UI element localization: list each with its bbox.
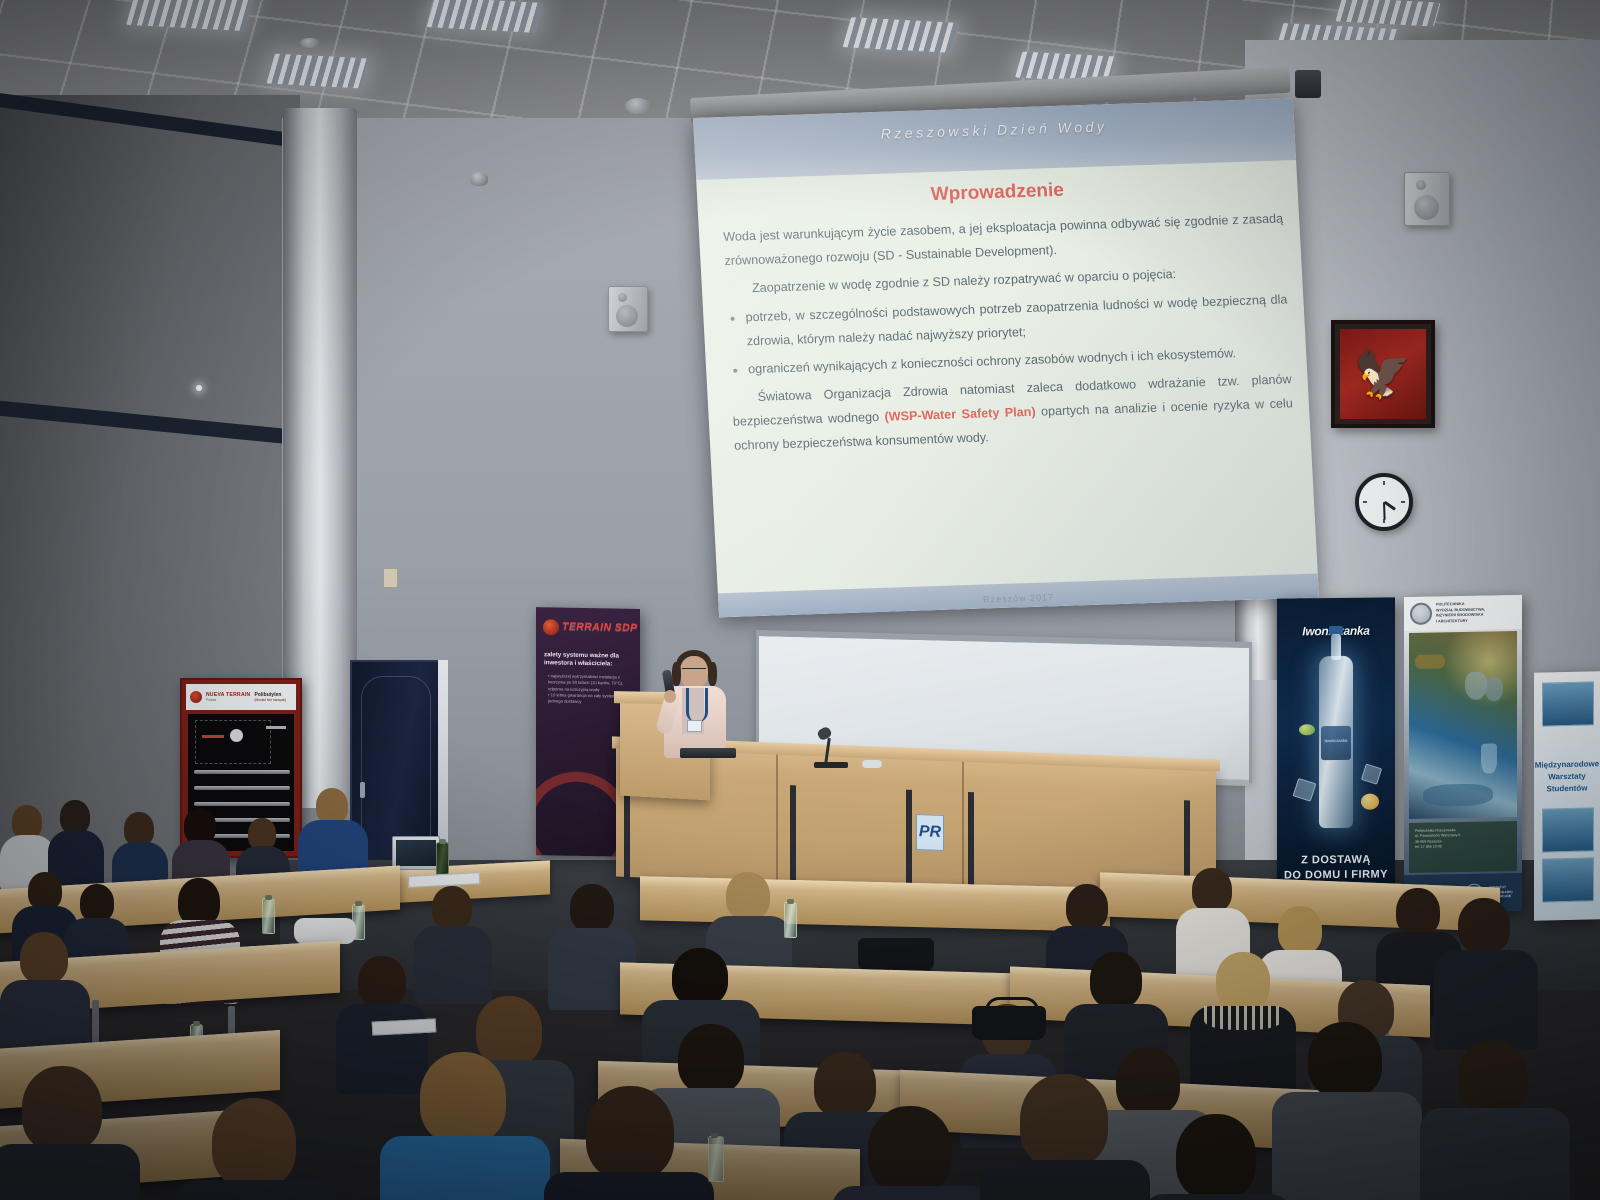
person-torso xyxy=(980,1160,1150,1200)
board-pipe-diagram xyxy=(195,720,271,764)
table-seam xyxy=(962,762,964,894)
slide-title: Wprowadzenie xyxy=(697,172,1298,214)
banner-iwoniczanka-line1: Z DOSTAWĄ xyxy=(1277,853,1395,866)
banner-edge-line1: Międzynarodowe xyxy=(1534,759,1600,770)
coat-on-bench xyxy=(294,918,356,944)
ceiling-vent-icon xyxy=(625,98,651,114)
microphone-stem xyxy=(824,738,831,764)
clock-tick xyxy=(1383,481,1385,485)
polish-eagle-emblem: 🦅 xyxy=(1331,320,1435,428)
lemon-slice-icon xyxy=(1361,794,1379,810)
board-pipe-sample xyxy=(194,770,290,774)
wall-clock xyxy=(1355,473,1413,531)
diagram-red-line xyxy=(202,735,224,738)
bottle-label: Iwoniczanka xyxy=(1321,726,1351,760)
wall-speaker-left xyxy=(608,286,648,332)
audience-person xyxy=(1434,898,1538,1048)
person-torso xyxy=(176,1180,336,1200)
person-head xyxy=(1308,1022,1382,1098)
ceiling-light-2 xyxy=(266,53,369,88)
person-head xyxy=(1090,952,1142,1008)
banner-university: POLITECHNIKA WYDZIAŁ BUDOWNICTWA, INŻYNI… xyxy=(1404,595,1522,913)
person-torso xyxy=(380,1136,550,1200)
person-head xyxy=(22,1066,102,1152)
speaker-cone-large xyxy=(616,305,638,327)
audience-person xyxy=(1420,1040,1570,1200)
lecture-hall-photo: Rzeszowski Dzień Wody Wprowadzenie Woda … xyxy=(0,0,1600,1200)
person-head xyxy=(1066,884,1108,930)
water-bottle xyxy=(784,902,797,938)
person-torso xyxy=(1434,950,1538,1050)
banner-university-footer-text: Politechnika Rzeszowska al. Powstańców W… xyxy=(1415,828,1460,850)
banner-edge-right: Międzynarodowe Warsztaty Studentów xyxy=(1534,671,1600,921)
bottle-cap xyxy=(355,901,362,906)
presenter-badge xyxy=(687,720,702,732)
person-torso xyxy=(0,1144,140,1200)
photo-element-tank xyxy=(1465,672,1487,700)
diagram-fitting xyxy=(266,726,286,729)
handbag-on-bench xyxy=(972,1006,1046,1040)
ceiling-smoke-detector-icon xyxy=(300,38,320,48)
bag-on-bench xyxy=(858,938,934,972)
board-pipe-sample xyxy=(194,802,290,806)
presenter-hair-side xyxy=(672,662,681,686)
diagram-valve-icon xyxy=(230,729,243,742)
person-head xyxy=(28,872,62,910)
water-bottle xyxy=(436,842,449,878)
nueva-terrain-logo-icon xyxy=(190,691,202,703)
projector-mount xyxy=(1295,70,1321,98)
table-leg xyxy=(790,785,796,885)
table-leg xyxy=(906,790,912,890)
banner-edge-line2: Warsztaty xyxy=(1534,771,1600,782)
bottle-cap xyxy=(711,1133,718,1138)
audience-person xyxy=(1142,1114,1292,1200)
person-head xyxy=(726,872,770,920)
audience-person xyxy=(0,1066,140,1200)
banner-iwoniczanka: Iwoniczanka Iwoniczanka Z DOSTAWĄ DO DOM… xyxy=(1277,597,1395,910)
presenter-laptop xyxy=(680,748,736,758)
audience-person xyxy=(176,1098,336,1200)
water-bottle xyxy=(708,1136,724,1182)
university-seal-icon xyxy=(1410,603,1432,625)
presenter-lanyard xyxy=(686,688,708,722)
speaker-cone-large xyxy=(1414,195,1439,220)
bag-handle xyxy=(985,997,1038,1012)
banner-edge-photo-top xyxy=(1542,681,1594,726)
person-head xyxy=(868,1106,952,1194)
audience-person xyxy=(980,1074,1150,1200)
necklace-icon xyxy=(1204,1006,1282,1030)
presenter-hand xyxy=(664,690,676,703)
speaker-cone-small xyxy=(1416,180,1426,190)
slide-paragraph-3: Światowa Organizacja Zdrowia natomiast z… xyxy=(731,367,1295,458)
board-tagline: (Montaż bez narzędzi) xyxy=(254,698,286,702)
presenter-glasses-icon xyxy=(682,668,706,674)
person-head xyxy=(60,800,90,834)
banner-university-header: POLITECHNIKA WYDZIAŁ BUDOWNICTWA, INŻYNI… xyxy=(1404,595,1522,631)
university-logo-plate: PR xyxy=(916,814,944,851)
eagle-icon: 🦅 xyxy=(1354,351,1411,397)
presenter-hair-side xyxy=(708,662,717,686)
bottle-cap xyxy=(439,839,446,844)
person-head xyxy=(586,1086,674,1180)
banner-university-header-text: POLITECHNIKA WYDZIAŁ BUDOWNICTWA, INŻYNI… xyxy=(1436,602,1485,625)
banner-university-footer: Politechnika Rzeszowska al. Powstańców W… xyxy=(1409,821,1517,873)
ice-cube-icon xyxy=(1361,763,1382,784)
banner-terrain-title: TERRAIN SDP xyxy=(562,621,638,634)
presenter-speaker xyxy=(658,652,734,762)
person-head xyxy=(1192,868,1232,912)
desk-microphone xyxy=(812,726,852,770)
person-head xyxy=(1278,906,1322,954)
clock-tick xyxy=(1401,501,1405,503)
slide-body: Woda jest warunkującym życie zasobem, a … xyxy=(723,206,1295,462)
banner-university-photo xyxy=(1409,631,1517,819)
emblem-red-field: 🦅 xyxy=(1340,329,1426,419)
person-head xyxy=(420,1052,506,1144)
table-leg xyxy=(968,792,974,892)
board-country: Polska xyxy=(206,698,250,702)
photo-element-tank xyxy=(1485,677,1503,701)
bottle-neck xyxy=(1331,634,1341,660)
desk-item-remote xyxy=(862,760,882,768)
person-head xyxy=(80,884,114,922)
board-header: NUEVA TERRAIN Polska Polibutylen (Montaż… xyxy=(186,684,296,710)
lime-slice-icon xyxy=(1299,724,1315,735)
audience-person xyxy=(544,1086,714,1200)
person-head xyxy=(1458,1040,1528,1114)
photo-element-flask xyxy=(1481,743,1497,773)
person-head xyxy=(20,932,68,984)
presentation-slide: Rzeszowski Dzień Wody Wprowadzenie Woda … xyxy=(693,98,1319,617)
person-head xyxy=(212,1098,296,1188)
projection-screen: Rzeszowski Dzień Wody Wprowadzenie Woda … xyxy=(693,98,1319,617)
water-bottle-icon: Iwoniczanka xyxy=(1319,656,1353,828)
laptop-screen xyxy=(396,840,436,866)
flame-drop-icon xyxy=(543,619,559,635)
audience-person xyxy=(1272,1022,1422,1200)
person-torso xyxy=(544,1172,714,1200)
person-head xyxy=(1458,898,1510,954)
person-head xyxy=(1176,1114,1256,1200)
clock-tick xyxy=(1363,501,1367,503)
person-head xyxy=(124,812,154,846)
person-head xyxy=(358,956,406,1008)
wall-indicator-light xyxy=(196,385,202,391)
bottle-cap xyxy=(787,899,794,904)
photo-element-basin xyxy=(1423,783,1493,806)
person-head xyxy=(678,1024,744,1094)
person-torso xyxy=(832,1186,992,1200)
person-head xyxy=(12,805,42,839)
slide-p3-highlight: (WSP-Water Safety Plan) xyxy=(884,405,1036,424)
bottle-cap xyxy=(193,1021,200,1026)
speaker-cone-small xyxy=(618,293,627,302)
wall-socket xyxy=(383,568,398,588)
table-seam xyxy=(776,755,778,887)
person-head xyxy=(432,886,472,930)
person-head xyxy=(316,788,348,824)
audience-person xyxy=(380,1052,550,1200)
ice-cube-icon xyxy=(1293,778,1317,802)
ceiling-light-3 xyxy=(427,0,544,33)
audience-person xyxy=(832,1106,992,1200)
ceiling-dome-camera-icon xyxy=(470,172,488,186)
ceiling-light-6 xyxy=(843,17,960,53)
person-head xyxy=(1020,1074,1108,1168)
wall-speaker-right xyxy=(1404,172,1450,226)
person-head xyxy=(184,808,216,844)
person-head xyxy=(672,948,728,1006)
person-torso xyxy=(1272,1092,1422,1200)
person-torso xyxy=(1420,1108,1570,1200)
water-bottle xyxy=(262,898,275,934)
person-torso xyxy=(1142,1194,1292,1200)
person-head xyxy=(570,884,614,932)
banner-terrain-subtitle: zalety systemu ważne dla inwestora i wła… xyxy=(544,651,634,669)
banner-edge-photo-bottom xyxy=(1542,807,1594,852)
wall-band-upper xyxy=(0,92,300,148)
banner-edge-line3: Studentów xyxy=(1534,783,1600,794)
person-head xyxy=(178,878,220,926)
bottle-cap xyxy=(265,895,272,900)
board-pipe-sample xyxy=(194,786,290,790)
microphone-base xyxy=(814,762,848,768)
banner-edge-photo-bottom2 xyxy=(1542,857,1594,902)
wall-band-lower xyxy=(0,400,300,445)
person-head xyxy=(1216,952,1270,1010)
photo-element-pipe xyxy=(1415,654,1445,669)
